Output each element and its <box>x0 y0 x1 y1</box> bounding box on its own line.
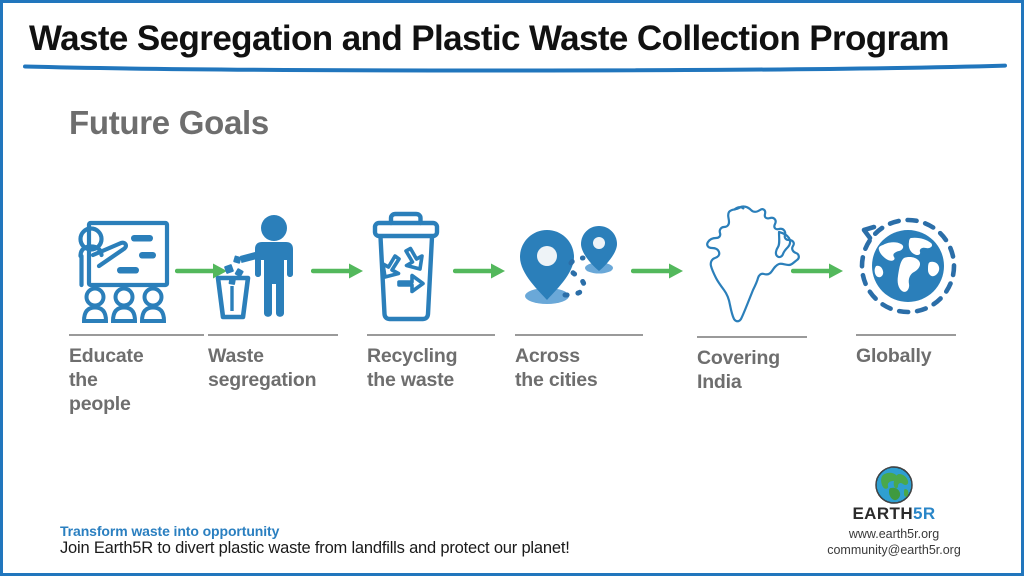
flow-step-cities: Across the cities <box>515 208 643 393</box>
brand-contact-info: www.earth5r.org community@earth5r.org <box>789 527 999 558</box>
flow-step-globally: Globally <box>856 208 968 369</box>
flow-step-label-globally: Globally <box>856 345 968 369</box>
slide-header: Waste Segregation and Plastic Waste Coll… <box>3 3 1021 81</box>
slide-canvas: Waste Segregation and Plastic Waste Coll… <box>0 0 1024 576</box>
arrow-right-icon <box>453 260 509 282</box>
footer-subline: Join Earth5R to divert plastic waste fro… <box>60 539 570 558</box>
future-goals-flow: Educate the people <box>3 208 1024 428</box>
earth5r-globe-logo <box>875 466 913 504</box>
brand-wordmark-5r: 5R <box>913 504 936 523</box>
flow-step-india: Covering India <box>697 208 807 395</box>
step-divider <box>69 334 204 336</box>
arrow-right-icon <box>311 260 367 282</box>
flow-step-recycling: Recycling the waste <box>367 208 495 393</box>
flow-step-segregation: Waste segregation <box>208 208 338 393</box>
brand-block: EARTH5R www.earth5r.org community@earth5… <box>789 466 999 558</box>
flow-step-label-india: Covering India <box>697 347 807 395</box>
flow-step-label-educate: Educate the people <box>69 345 204 416</box>
step-divider <box>697 336 807 338</box>
step-divider <box>208 334 338 336</box>
flow-step-educate: Educate the people <box>69 208 204 416</box>
globe-orbit-icon <box>856 208 968 326</box>
step-divider <box>515 334 643 336</box>
page-title: Waste Segregation and Plastic Waste Coll… <box>29 19 949 59</box>
step-divider <box>367 334 495 336</box>
brand-wordmark: EARTH5R <box>789 505 999 522</box>
flow-step-label-cities: Across the cities <box>515 345 643 393</box>
flow-step-label-segregation: Waste segregation <box>208 345 338 393</box>
flow-step-label-recycling: Recycling the waste <box>367 345 495 393</box>
footer-tagline: Transform waste into opportunity <box>60 523 279 539</box>
section-title: Future Goals <box>69 104 269 142</box>
step-divider <box>856 334 956 336</box>
brand-wordmark-earth: EARTH <box>852 504 913 523</box>
arrow-right-icon <box>791 260 847 282</box>
map-pins-route-icon <box>515 208 643 326</box>
arrow-right-icon <box>631 260 687 282</box>
title-underline-decoration <box>21 62 1009 74</box>
